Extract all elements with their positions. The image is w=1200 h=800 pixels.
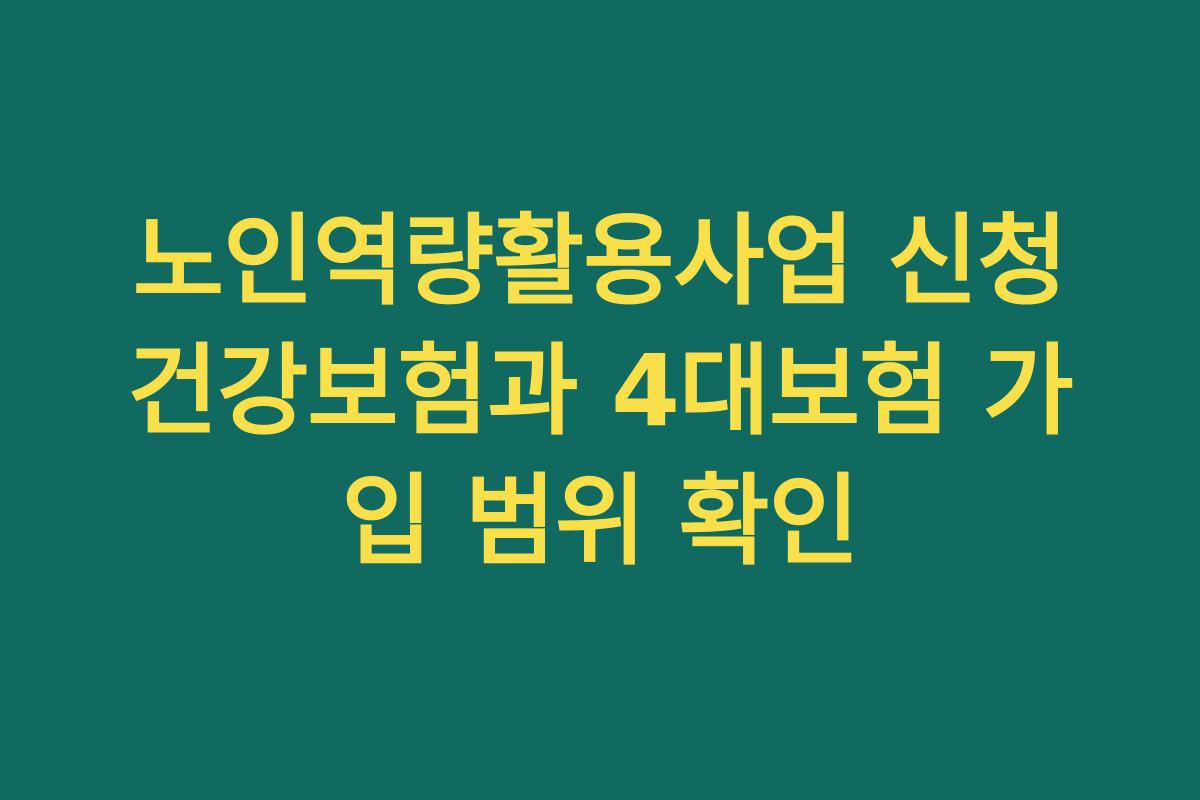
headline-line-1: 노인역량활용사업 신청: [95, 197, 1105, 327]
headline-block: 노인역량활용사업 신청 건강보험과 4대보험 가 입 범위 확인: [95, 197, 1105, 587]
thumbnail-card: 노인역량활용사업 신청 건강보험과 4대보험 가 입 범위 확인: [0, 0, 1200, 800]
headline-line-3: 입 범위 확인: [95, 457, 1105, 587]
headline-line-2: 건강보험과 4대보험 가: [95, 327, 1105, 457]
